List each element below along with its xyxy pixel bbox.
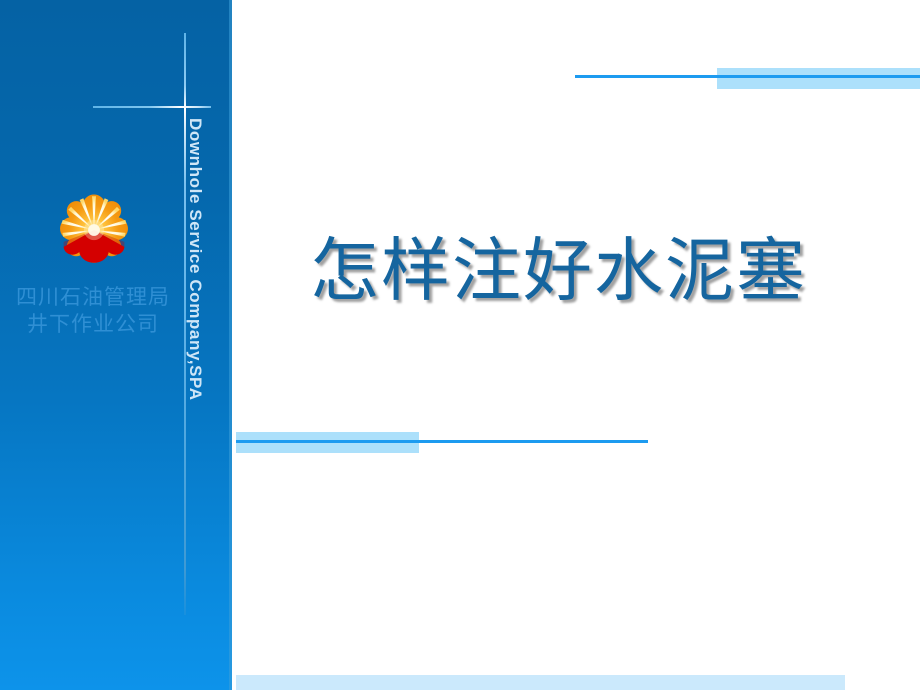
bottom-accent-bar [236, 675, 845, 690]
cross-horizontal-line-decoration [93, 106, 211, 108]
company-name-line-1: 四川石油管理局 [0, 284, 186, 311]
vertical-company-text: Downhole Service Company,SPA [185, 118, 205, 401]
slide-title: 怎样注好水泥塞 [310, 228, 807, 314]
company-name-line-2: 井下作业公司 [0, 311, 186, 338]
top-accent-rectangle [717, 68, 920, 89]
presentation-slide: 四川石油管理局 井下作业公司 Downhole Service Company,… [0, 0, 920, 690]
company-name: 四川石油管理局 井下作业公司 [0, 284, 186, 338]
sidebar-edge-highlight [229, 0, 232, 690]
top-accent-line [575, 75, 920, 78]
middle-accent-line [236, 440, 648, 443]
petrochina-logo [46, 189, 142, 285]
